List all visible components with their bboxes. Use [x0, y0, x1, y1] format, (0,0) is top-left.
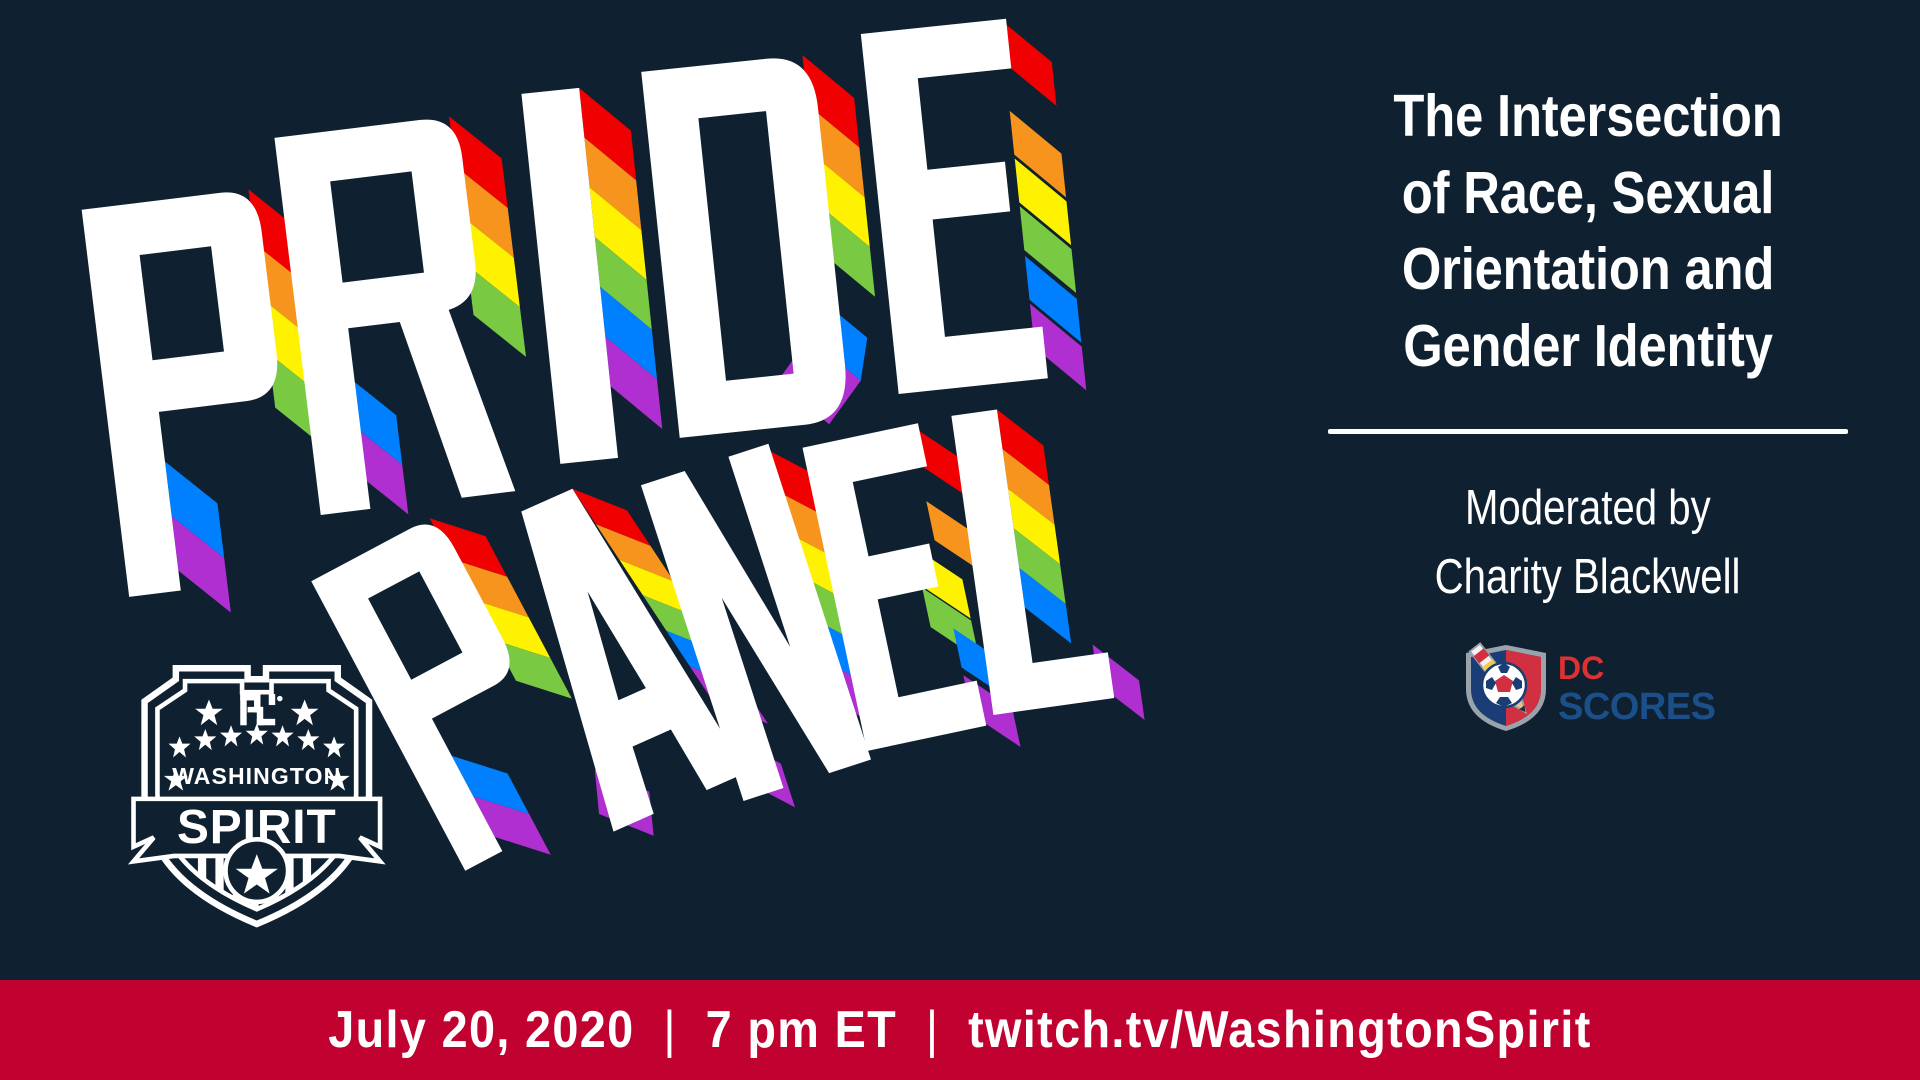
banner-url[interactable]: twitch.tv/WashingtonSpirit [968, 1001, 1592, 1059]
dc-scores-text-scores: SCORES [1558, 686, 1715, 728]
promo-graphic: WASHINGTON [0, 0, 1920, 1080]
dc-scores-text-dc: DC [1558, 650, 1604, 686]
letter-I-pride [521, 83, 664, 464]
headline-line-1: The Intersection [1330, 78, 1846, 155]
banner-text: July 20, 2020 | 7 pm ET | twitch.tv/Wash… [328, 1000, 1591, 1060]
pride-panel-artwork: WASHINGTON [0, 0, 1255, 980]
moderator-label: Moderated by [1465, 474, 1711, 544]
headline-line-3: Orientation and [1330, 231, 1846, 308]
crest-soccer-ball-icon [226, 839, 289, 902]
banner-time: 7 pm ET [706, 1001, 897, 1059]
dc-monogram-icon [240, 694, 282, 725]
banner-separator-1: | [649, 1000, 691, 1060]
letter-E-pride [861, 14, 1086, 409]
banner-separator-2: | [912, 1000, 954, 1060]
page-title: The Intersection of Race, Sexual Orienta… [1330, 78, 1846, 385]
headline-line-4: Gender Identity [1330, 308, 1846, 385]
dc-scores-shield-icon [1466, 643, 1546, 730]
letter-R-pride [274, 111, 543, 525]
crest-city-label: WASHINGTON [172, 763, 341, 789]
banner-date: July 20, 2020 [328, 1001, 634, 1059]
dc-scores-logo: DC SCORES [1458, 639, 1718, 735]
moderator-name: Charity Blackwell [1435, 543, 1741, 613]
star-row-arc [168, 723, 345, 757]
headline-line-2: of Race, Sexual [1330, 155, 1846, 232]
right-text-column: The Intersection of Race, Sexual Orienta… [1255, 0, 1920, 980]
washington-spirit-crest: WASHINGTON [134, 668, 381, 924]
section-divider [1328, 429, 1848, 434]
letter-D-pride [641, 50, 888, 440]
event-details-banner: July 20, 2020 | 7 pm ET | twitch.tv/Wash… [0, 980, 1920, 1080]
